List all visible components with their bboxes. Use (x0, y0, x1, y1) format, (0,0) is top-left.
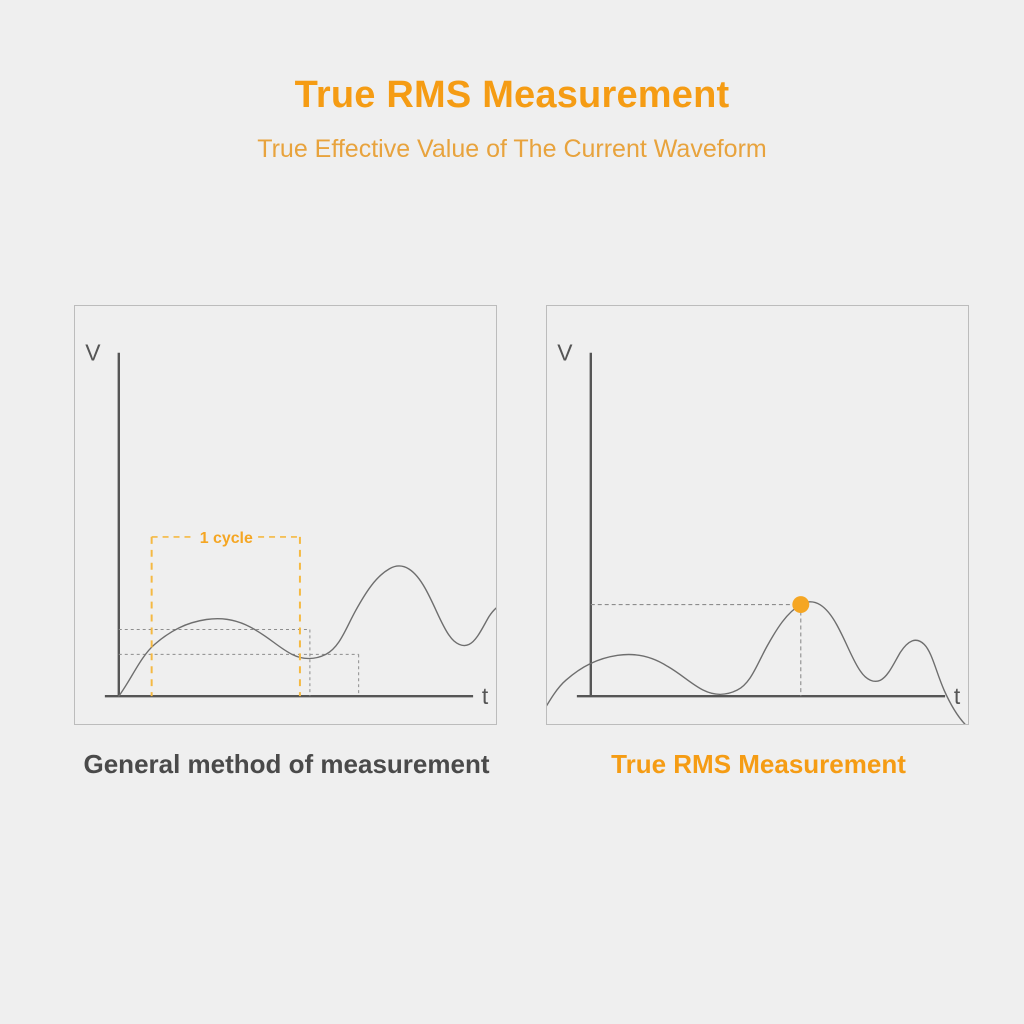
waveform-path (119, 566, 496, 696)
peak-marker-icon (792, 596, 809, 613)
page-header: True RMS Measurement True Effective Valu… (0, 0, 1024, 162)
x-axis-label: t (954, 683, 961, 709)
chart-panel-general-method: V t 1 cycle (74, 305, 497, 725)
caption-true-rms: True RMS Measurement (546, 750, 971, 779)
cycle-annotation-label: 1 cycle (200, 530, 253, 547)
waveform-path (547, 602, 968, 724)
y-axis-label: V (557, 340, 573, 366)
caption-general-method: General method of measurement (74, 750, 499, 779)
page-title: True RMS Measurement (0, 0, 1024, 116)
general-method-diagram: V t 1 cycle (75, 306, 496, 724)
true-rms-diagram: V t (547, 306, 968, 724)
chart-panel-true-rms: V t (546, 305, 969, 725)
page-subtitle: True Effective Value of The Current Wave… (0, 116, 1024, 162)
x-axis-label: t (482, 683, 489, 709)
y-axis-label: V (85, 340, 101, 366)
